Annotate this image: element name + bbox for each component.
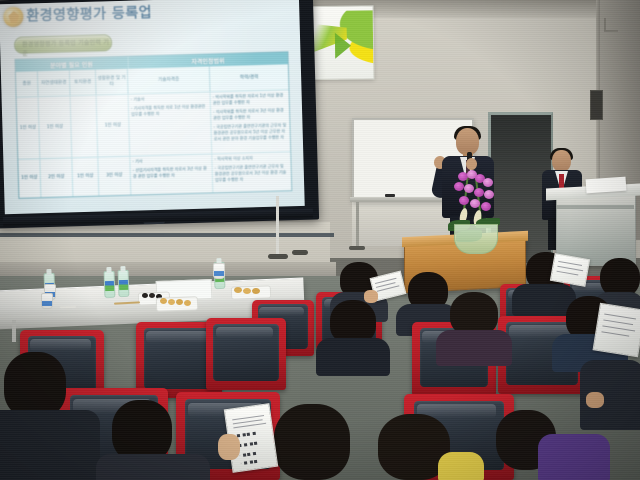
screen-frame: 환경영향평가 등록업 환경영향평가 등록업 기술인력 기준 분야별 필요 인원 … [0,0,319,228]
paper-cup [41,293,53,309]
text-line [557,271,579,276]
booklet-text: ■ ■■ ■ [236,430,257,438]
snack-item [160,298,167,304]
orchid-flower [484,190,494,199]
wall-fixture-icon [590,90,603,120]
cell-education: - 학사학위 이상 소지자- 국공립연구기관 출연연구기관 근무자 및 환경관련… [212,151,291,192]
sub-header-0: 총원 [16,71,39,97]
slide-content: 환경영향평가 등록업 환경영향평가 등록업 기술인력 기준 분야별 필요 인원 … [0,0,305,214]
snack-item [142,293,148,298]
wall-trim-upper [0,233,334,237]
shoulders [0,410,100,480]
head [274,404,350,480]
cell-living: 3인 이상 [98,156,131,196]
sub-header-4: 기술자격증 [128,66,211,93]
snack-item [252,288,260,294]
seat-highlight [146,331,208,343]
cell-total: 1인 이상 [17,96,41,159]
table-row: 1인 이상 2인 이상 1인 이상 3인 이상 - 기사- 산업기사자격을 취득… [18,151,291,198]
seat-highlight [30,339,90,351]
booklet-text: ■ ■ ■■ [238,440,259,448]
text-line [557,266,583,271]
screen-pull-handle[interactable] [143,217,165,225]
water-bottle [118,270,130,297]
whiteboard-foot [349,246,365,250]
text-line [603,319,633,325]
booklet-text: · ■ ■■ [240,458,258,465]
sub-header-5: 학력/경력 [210,64,289,91]
slide-table: 분야별 필요 인원 자격인정범위 총원 자연생태환경 토지환경 생활환경 및 기… [15,51,293,199]
shoulders [96,454,210,480]
cell-land: 1인 이상 [72,157,99,197]
sub-header-2: 토지환경 [70,70,97,96]
lectern-edge [556,205,634,209]
audience-person [104,400,204,480]
cell-nature: 2인 이상 [40,157,73,197]
cell-education: - 박사학위를 취득한 자로서 1년 이상 환경 관련 업무를 수행한 자- 석… [211,89,291,153]
audience-person [262,404,372,480]
shoulders [316,338,390,376]
orchid-pot [454,224,498,254]
orchid-flower [454,182,464,191]
cell-qualification: - 기사- 산업기사자격을 취득한 자로서 3년 이상 환경 관련 업무를 수행… [130,153,213,194]
sub-header-1: 자연생태환경 [38,70,71,96]
shoulders [436,330,512,366]
slide-subtitle-bar: 환경영향평가 등록업 기술인력 기준 [14,34,112,54]
lectern-papers [586,177,627,194]
audience-person [0,352,96,480]
hand [586,392,604,408]
slide-title: 환경영향평가 등록업 [26,1,206,26]
snack-item [168,299,175,305]
shoulders [438,452,484,480]
table-leg [12,320,16,342]
slide-subtitle-text: 환경영향평가 등록업 기술인력 기준 [22,37,111,57]
screen-surface: 환경영향평가 등록업 환경영향평가 등록업 기술인력 기준 분야별 필요 인원 … [0,0,305,214]
projection-screen: 환경영향평가 등록업 환경영향평가 등록업 기술인력 기준 분야별 필요 인원 … [0,0,319,228]
audience-person [318,300,388,374]
handout-booklet [593,303,640,358]
screen-stand-pole [276,196,279,258]
text-line [601,331,629,336]
head [552,150,571,172]
audience-person [438,292,510,364]
bottle-label [119,280,128,290]
snack-item [234,287,242,293]
whiteboard-marker-icon [385,194,395,197]
snack-item [243,288,251,294]
booklet-text: · ■■ ■ [239,450,257,457]
orchid-flower [464,184,474,193]
audience-person [368,414,478,480]
cell-total: 1인 이상 [18,158,41,198]
cell-qualification: - 기술사- 기사자격을 취득한 자로 1년 이상 환경관련 업무를 수행한 자 [129,91,213,155]
snack-item [184,300,191,306]
head [456,128,479,155]
cell-land [71,95,99,158]
orchid-flower [483,178,493,187]
ceiling-bracket-icon [604,18,618,32]
orchid-flower [481,202,491,211]
screen-stand-foot [292,250,308,255]
head [112,400,172,462]
water-bottle [104,271,116,298]
seat-highlight [216,327,274,339]
orchid-flower [474,188,484,197]
sub-header-3: 생활환경 및 기타 [96,69,129,95]
text-line [558,261,582,266]
cell-nature: 1인 이상 [39,95,73,158]
whiteboard-leg [356,202,359,250]
snack-item [149,293,155,298]
handout-booklet [550,253,590,287]
orchid-arrangement [440,168,510,254]
audience-person [580,360,640,430]
cup-band [42,301,52,306]
bottle-label [105,281,114,291]
emblem-icon [3,7,24,28]
text-line [602,325,635,331]
text-line [604,314,636,320]
orchid-flower [459,196,469,205]
shoulders [538,434,610,480]
head [4,352,66,418]
cell-living: 1인 이상 [97,94,131,157]
hand [218,434,240,460]
banner-chevron-icon [335,33,351,59]
table-row: 1인 이상 1인 이상 1인 이상 - 기술사- 기사자격을 취득한 자로 1년… [17,89,291,159]
snack-item [176,299,183,305]
paper-cup [213,263,225,279]
orchid-flower [470,199,480,208]
cup-band [214,271,224,276]
screen-stand-foot [268,254,288,259]
seat-highlight [259,307,304,316]
seminar-photo-scene: 수회 구전학문 고급 환경공학과 환경영향평가 등록업 환경영향평가 등록업 기… [0,0,640,480]
auditorium-seat[interactable] [206,318,286,390]
